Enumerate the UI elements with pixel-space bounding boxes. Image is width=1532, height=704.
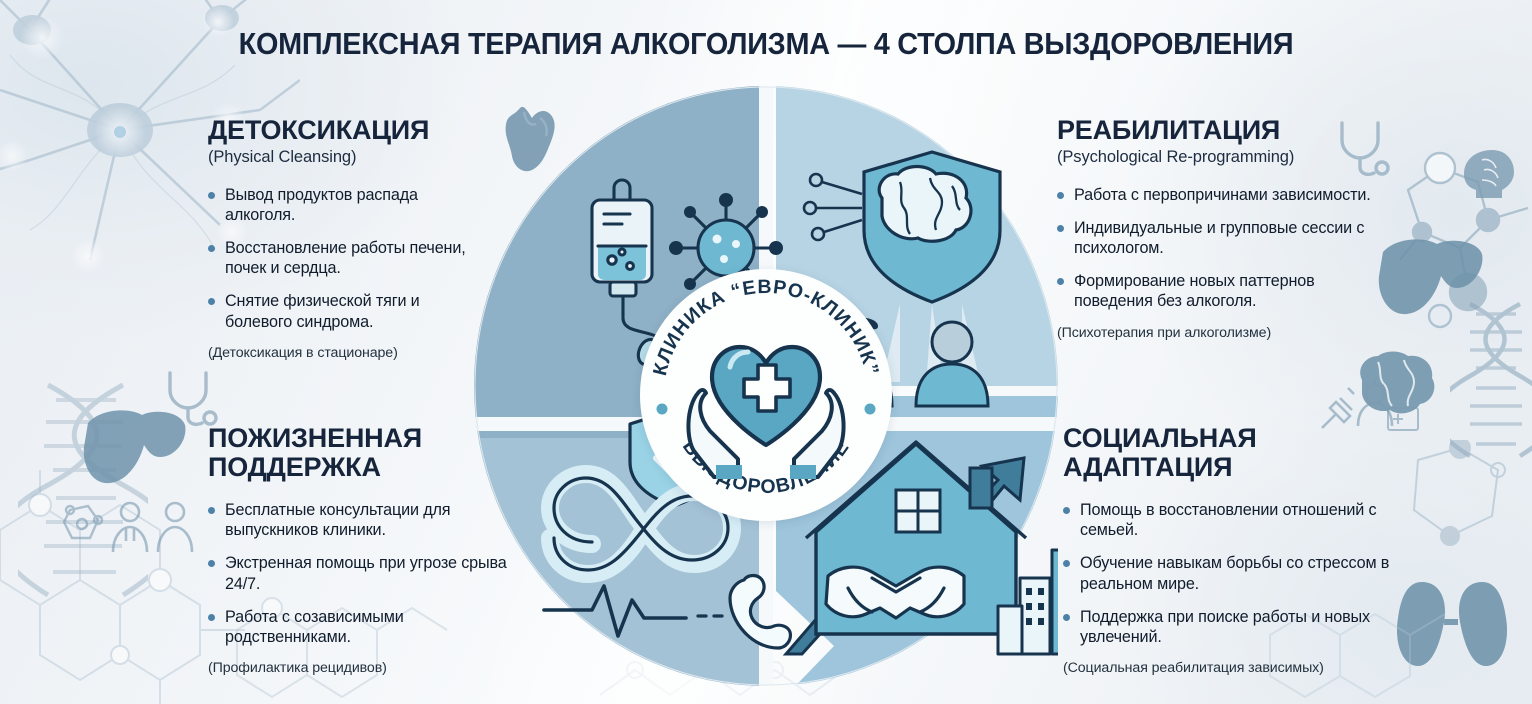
badge-dot-left xyxy=(657,404,668,415)
list-item: Помощь в восстановлении отношений с семь… xyxy=(1063,500,1393,540)
list-item: Вывод продуктов распада алкоголя. xyxy=(208,185,490,225)
list-item: Формирование новых паттернов поведения б… xyxy=(1057,271,1387,311)
heart-in-hands-with-cross-icon xyxy=(688,347,843,479)
pillar-footnote-social: (Социальная реабилитация зависимых) xyxy=(1063,660,1393,676)
pillar-footnote-rehab: (Психотерапия при алкоголизме) xyxy=(1057,325,1387,341)
list-item: Снятие физической тяги и болевого синдро… xyxy=(208,291,490,331)
list-item: Работа с созависимыми родственниками. xyxy=(208,607,528,647)
pillar-block-social: СОЦИАЛЬНАЯ АДАПТАЦИЯ Помощь в восстановл… xyxy=(1063,424,1393,676)
pillar-heading-rehab: РЕАБИЛИТАЦИЯ xyxy=(1057,116,1387,145)
pillar-bullets-rehab: Работа с первопричинами зависимости. Инд… xyxy=(1057,185,1387,311)
list-item: Восстановление работы печени, почек и се… xyxy=(208,238,490,278)
pillar-block-support: ПОЖИЗНЕННАЯ ПОДДЕРЖКА Бесплатные консуль… xyxy=(208,424,528,676)
list-item: Индивидуальные и групповые сессии с псих… xyxy=(1057,218,1387,258)
pillar-bullets-social: Помощь в восстановлении отношений с семь… xyxy=(1063,500,1393,646)
center-brand-badge: КЛИНИКА “ЕВРО-КЛИНИК” ВЫЗДОРОВЛЕНИЕ xyxy=(640,269,892,521)
pillar-footnote-support: (Профилактика рецидивов) xyxy=(208,660,528,676)
pillar-subheading-detox: (Physical Cleansing) xyxy=(208,148,490,167)
list-item: Поддержка при поиске работы и новых увле… xyxy=(1063,607,1393,647)
list-item: Бесплатные консультации для выпускников … xyxy=(208,500,528,540)
pillar-block-detox: ДЕТОКСИКАЦИЯ (Physical Cleansing) Вывод … xyxy=(208,116,490,361)
pillar-block-rehab: РЕАБИЛИТАЦИЯ (Psychological Re-programmi… xyxy=(1057,116,1387,341)
pillar-bullets-support: Бесплатные консультации для выпускников … xyxy=(208,500,528,646)
list-item: Экстренная помощь при угрозе срыва 24/7. xyxy=(208,553,528,593)
pillar-heading-support: ПОЖИЗНЕННАЯ ПОДДЕРЖКА xyxy=(208,424,528,482)
list-item: Обучение навыкам борьбы со стрессом в ре… xyxy=(1063,553,1393,593)
page-title: КОМПЛЕКСНАЯ ТЕРАПИЯ АЛКОГОЛИЗМА — 4 СТОЛ… xyxy=(54,26,1479,62)
pillar-bullets-detox: Вывод продуктов распада алкоголя. Восста… xyxy=(208,185,490,331)
pillar-heading-detox: ДЕТОКСИКАЦИЯ xyxy=(208,116,490,145)
pillar-heading-social: СОЦИАЛЬНАЯ АДАПТАЦИЯ xyxy=(1063,424,1393,482)
list-item: Работа с первопричинами зависимости. xyxy=(1057,185,1387,205)
pillar-subheading-rehab: (Psychological Re-programming) xyxy=(1057,148,1387,167)
badge-dot-right xyxy=(865,404,876,415)
pillar-footnote-detox: (Детоксикация в стационаре) xyxy=(208,345,490,361)
